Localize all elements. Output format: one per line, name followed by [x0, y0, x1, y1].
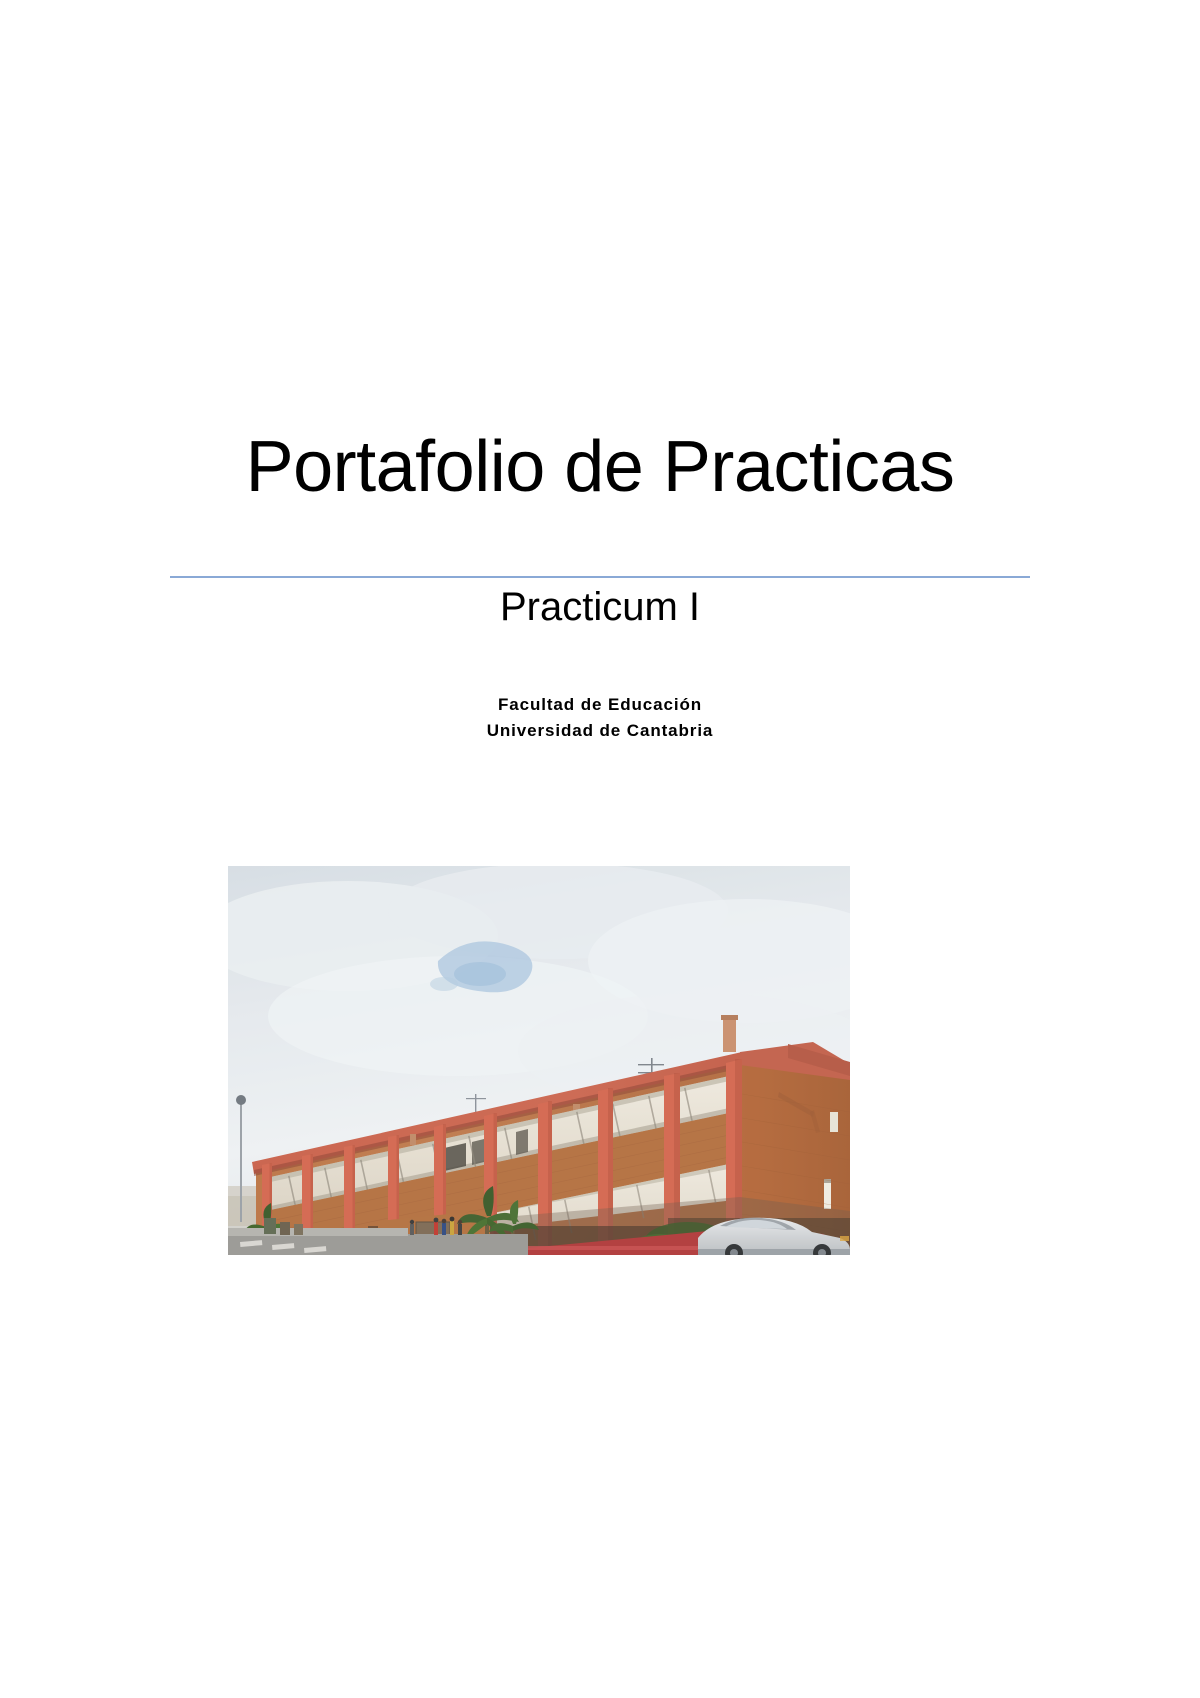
page-title: Portafolio de Practicas [170, 424, 1030, 510]
school-building-illustration [228, 866, 850, 1255]
school-building-photo [228, 866, 850, 1255]
document-cover-page: Portafolio de Practicas Practicum I Facu… [0, 0, 1200, 1698]
page-subtitle: Practicum I [170, 582, 1030, 632]
institution-faculty: Facultad de Educación [170, 692, 1030, 718]
institution-university: Universidad de Cantabria [170, 718, 1030, 744]
institution-block: Facultad de Educación Universidad de Can… [170, 692, 1030, 744]
title-divider-rule [170, 576, 1030, 578]
